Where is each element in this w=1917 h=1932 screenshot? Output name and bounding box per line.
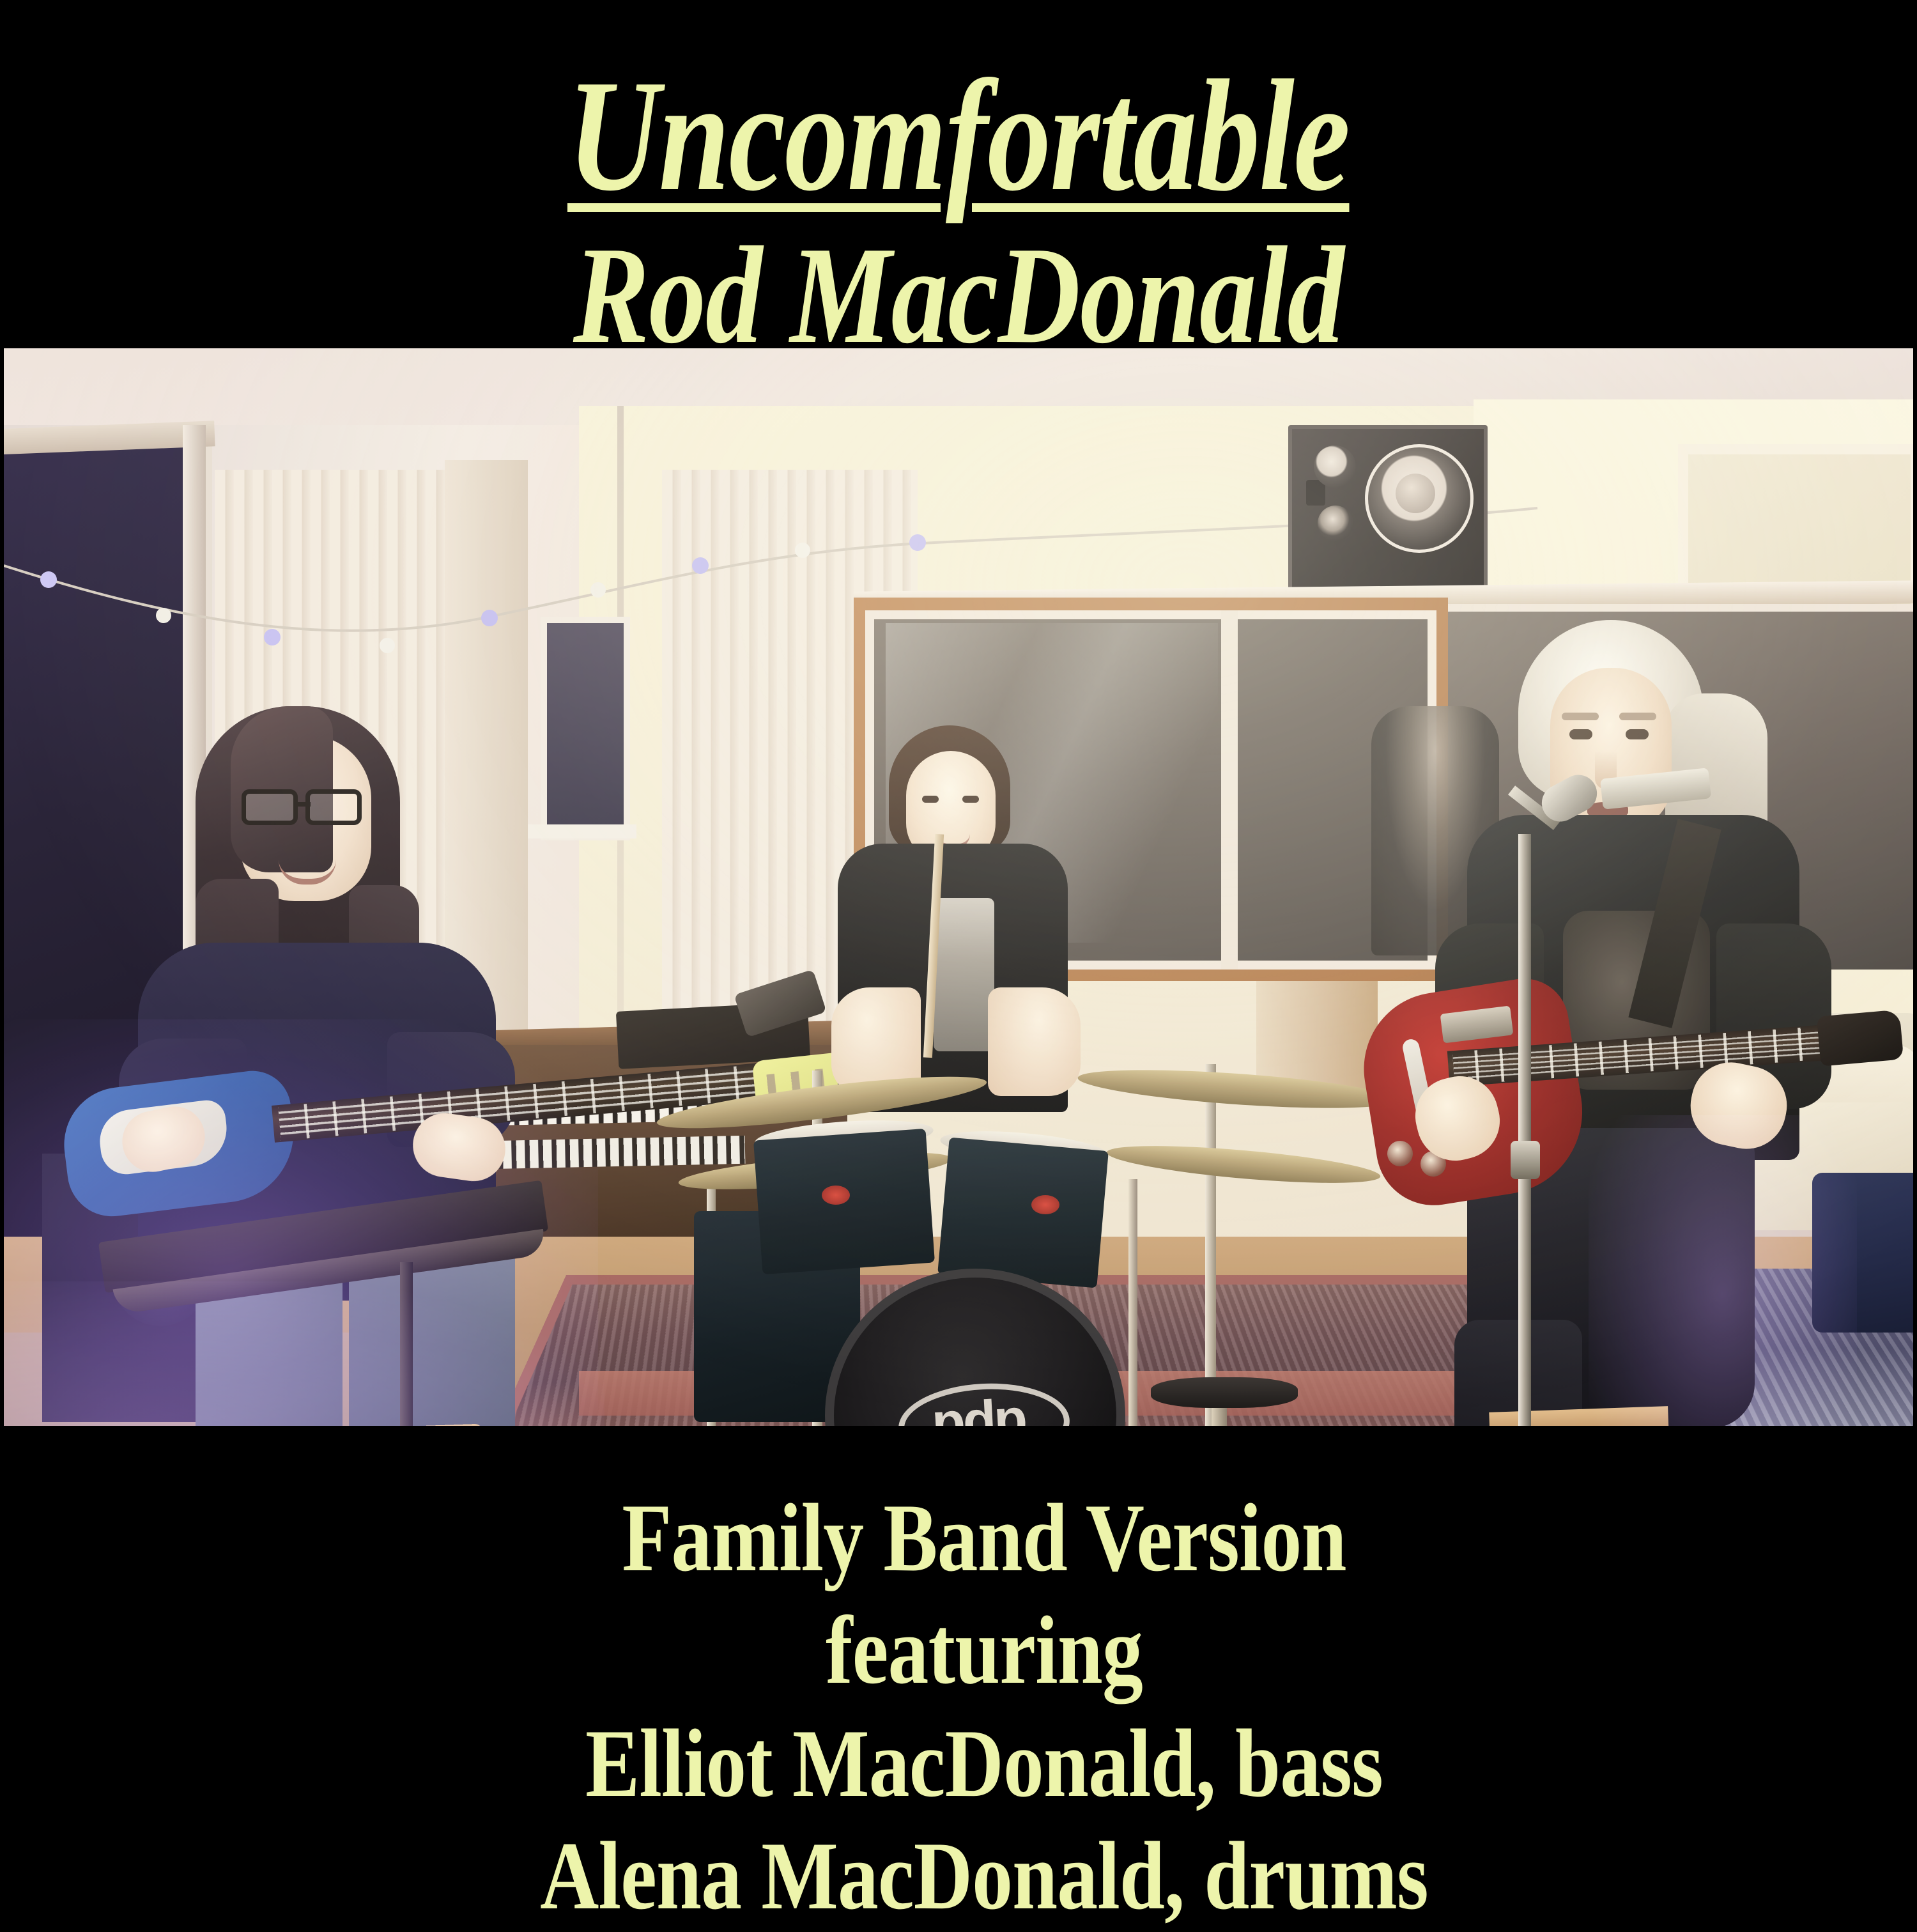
rod-eye-left — [1569, 729, 1592, 739]
cymbal-stand-rod — [1205, 1064, 1216, 1426]
glasses-bridge — [296, 802, 311, 807]
album-art-card: Uncomfortable Rod MacDonald — [0, 0, 1917, 1917]
music-stand-pole — [400, 1262, 413, 1426]
drum-badge — [822, 1186, 850, 1205]
microphone-stand-pole — [1518, 834, 1531, 1426]
band-photo: pdp — [4, 348, 1913, 1426]
speaker-tweeter — [1314, 445, 1356, 488]
credit-line-bassist: Elliot MacDonald, bass — [201, 1707, 1768, 1820]
credit-line-featuring: featuring — [201, 1594, 1768, 1706]
speaker-woofer-dustcap — [1396, 474, 1435, 513]
window-mullion — [1221, 610, 1238, 970]
window-sill — [528, 824, 636, 838]
credit-line-version: Family Band Version — [201, 1481, 1768, 1594]
hihat-stand — [1128, 1179, 1137, 1426]
piano-keys-lower — [489, 1136, 746, 1169]
rod-eye-right — [1626, 729, 1649, 739]
drummer-tshirt-graphic — [934, 898, 994, 1051]
guitar-knob — [1387, 1141, 1413, 1166]
rod-eyebrow-left — [1562, 713, 1599, 720]
glasses-lens-right — [305, 789, 362, 825]
microphone-stand-clutch — [1511, 1141, 1540, 1179]
rack-tom-right — [937, 1138, 1109, 1288]
drum-throne-seat — [1151, 1377, 1298, 1408]
drummer-eye-right — [962, 796, 979, 803]
title-block: Uncomfortable Rod MacDonald — [0, 61, 1917, 366]
bass-player-glasses — [242, 789, 376, 826]
drum-badge — [1031, 1195, 1059, 1214]
glasses-lens-left — [242, 789, 298, 825]
guitar-headstock — [1817, 1009, 1904, 1066]
credits-block: Family Band Version featuring Elliot Mac… — [0, 1481, 1917, 1932]
artist-name: Rod MacDonald — [173, 226, 1744, 366]
speaker-midrange — [1318, 506, 1353, 541]
credit-line-drummer: Alena MacDonald, drums — [201, 1820, 1768, 1932]
navy-bag — [1812, 1173, 1913, 1333]
drummer-right-arm — [988, 987, 1081, 1096]
rod-eyebrow-right — [1619, 713, 1656, 720]
song-title: Uncomfortable — [567, 61, 1350, 211]
drummer-eye-left — [922, 796, 939, 803]
